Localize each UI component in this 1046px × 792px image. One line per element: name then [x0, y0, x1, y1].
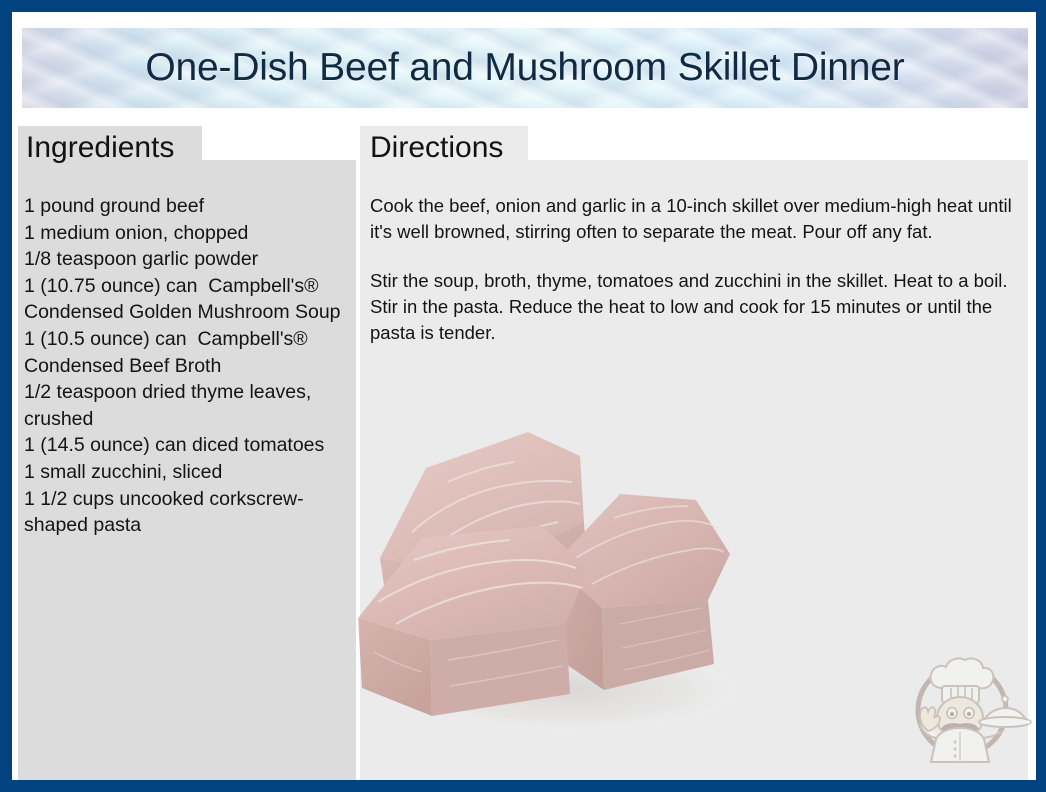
ingredients-heading: Ingredients: [26, 131, 174, 165]
frame-border-bottom: [0, 780, 1046, 792]
page-title: One-Dish Beef and Mushroom Skillet Dinne…: [22, 46, 1028, 90]
directions-text: Cook the beef, onion and garlic in a 10-…: [370, 193, 1022, 369]
list-item: 1 pound ground beef: [24, 193, 356, 220]
list-item: 1 (14.5 ounce) can diced tomatoes: [24, 432, 356, 459]
list-item: 1 1/2 cups uncooked corkscrew-shaped pas…: [24, 486, 356, 539]
list-item: 1 medium onion, chopped: [24, 220, 356, 247]
list-item: 1 (10.5 ounce) can Campbell's® Condensed…: [24, 326, 356, 379]
list-item: 1 (10.75 ounce) can Campbell's® Condense…: [24, 273, 356, 326]
directions-heading: Directions: [370, 131, 503, 165]
chef-logo-icon: [896, 638, 1032, 774]
title-banner: One-Dish Beef and Mushroom Skillet Dinne…: [22, 28, 1028, 108]
ingredients-list: 1 pound ground beef 1 medium onion, chop…: [24, 193, 356, 539]
frame-border-left: [0, 0, 12, 792]
direction-paragraph: Cook the beef, onion and garlic in a 10-…: [370, 193, 1022, 245]
list-item: 1/2 teaspoon dried thyme leaves, crushed: [24, 379, 356, 432]
list-item: 1/8 teaspoon garlic powder: [24, 246, 356, 273]
direction-paragraph: Stir the soup, broth, thyme, tomatoes an…: [370, 268, 1022, 346]
recipe-card-page: One-Dish Beef and Mushroom Skillet Dinne…: [0, 0, 1046, 792]
list-item: 1 small zucchini, sliced: [24, 459, 356, 486]
beef-cubes-image: [352, 372, 772, 740]
frame-border-top: [0, 0, 1046, 12]
frame-border-right: [1036, 0, 1046, 792]
